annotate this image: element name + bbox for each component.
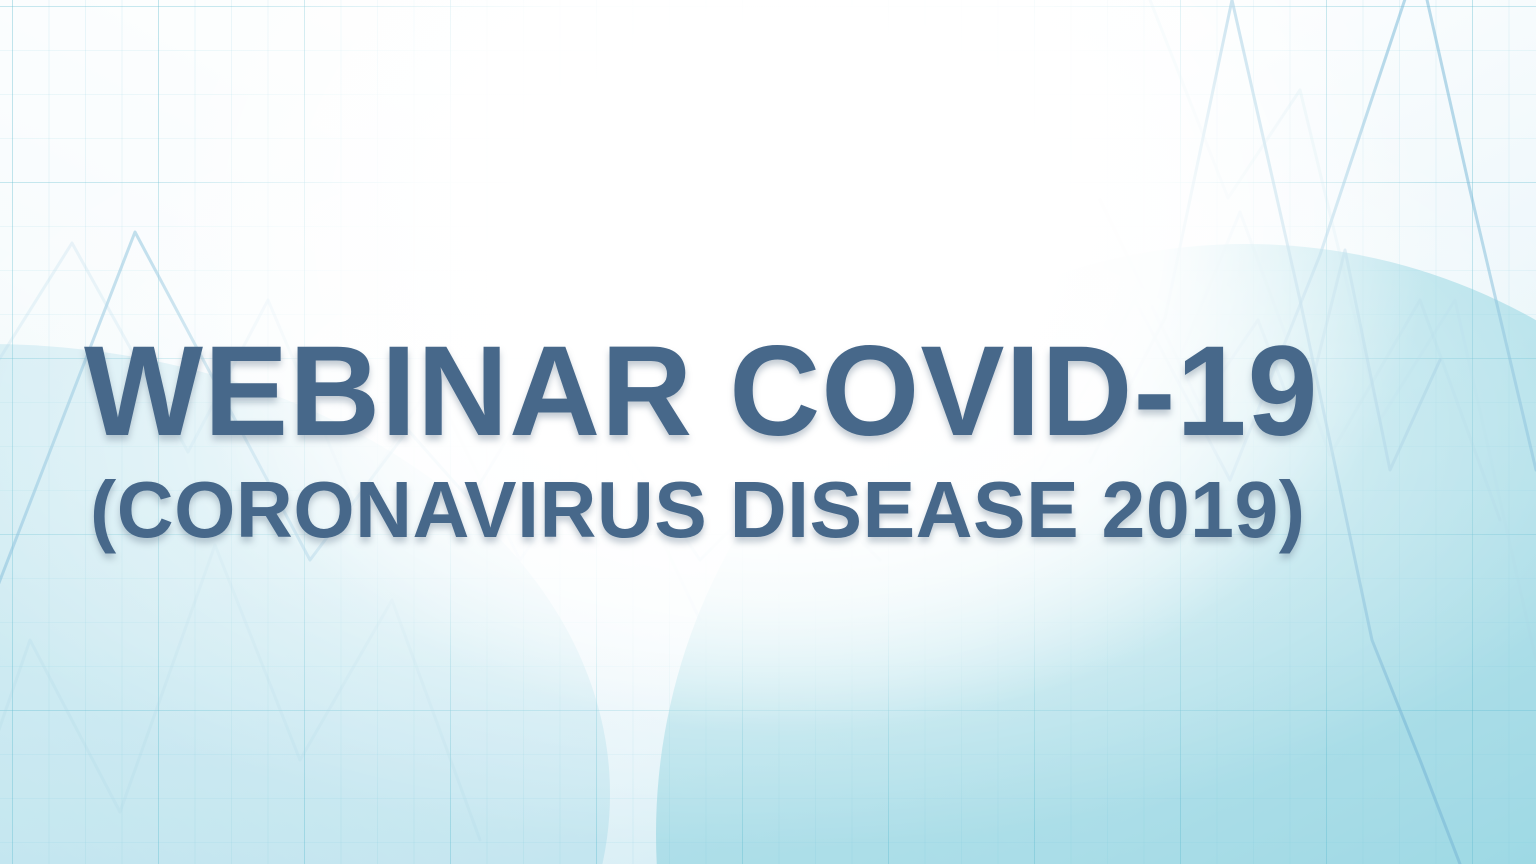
page-title: WEBINAR COVID-19 — [84, 332, 1514, 452]
title-slide: WEBINAR COVID-19 (CORONAVIRUS DISEASE 20… — [0, 0, 1536, 864]
page-subtitle: (CORONAVIRUS DISEASE 2019) — [90, 462, 1514, 558]
title-block: WEBINAR COVID-19 (CORONAVIRUS DISEASE 20… — [0, 332, 1536, 558]
